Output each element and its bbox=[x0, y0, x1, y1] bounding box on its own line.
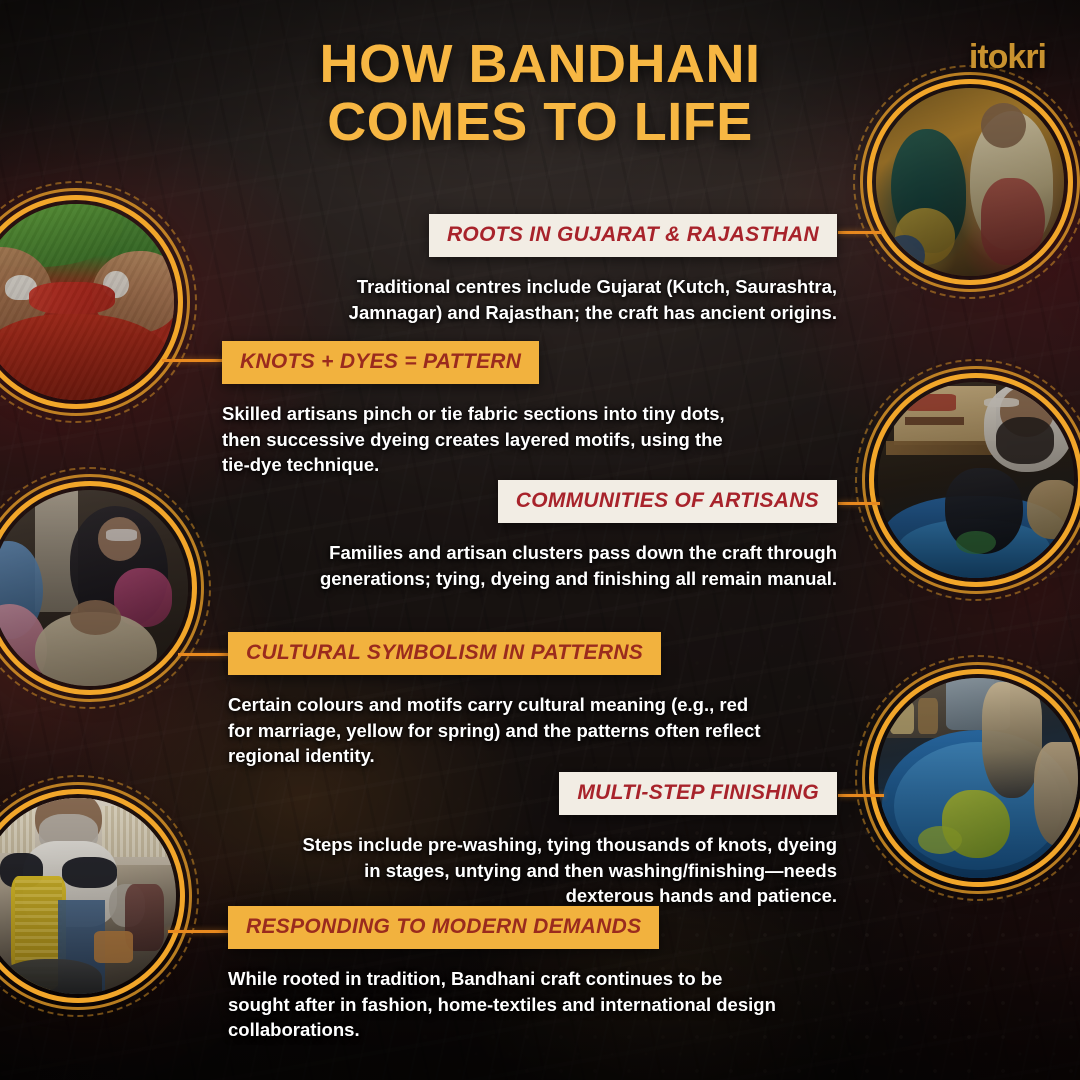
photo-man-lifting-yellow-fabric bbox=[0, 798, 176, 994]
photo-two-women-tying-knots-image bbox=[876, 88, 1064, 276]
section-3-body: Families and artisan clusters pass down … bbox=[245, 540, 837, 591]
photo-dyer-blue-tub bbox=[878, 382, 1074, 578]
photo-two-women-tying-knots bbox=[876, 88, 1064, 276]
page-title-line-2: COMES TO LIFE bbox=[210, 94, 870, 152]
brand-logo[interactable]: itokri bbox=[969, 38, 1046, 77]
section-2-label[interactable]: KNOTS + DYES = PATTERN bbox=[222, 341, 539, 384]
section-1-label[interactable]: ROOTS IN GUJARAT & RAJASTHAN bbox=[429, 214, 837, 257]
section-1: ROOTS IN GUJARAT & RAJASTHAN Traditional… bbox=[281, 214, 837, 325]
section-6: RESPONDING TO MODERN DEMANDS While roote… bbox=[228, 906, 784, 1043]
section-2: KNOTS + DYES = PATTERN Skilled artisans … bbox=[222, 341, 754, 478]
connector-line-3 bbox=[838, 502, 880, 505]
section-5-body: Steps include pre-washing, tying thousan… bbox=[300, 832, 837, 909]
connector-line-6 bbox=[168, 930, 230, 933]
photo-dye-vat-blue-yellow-image bbox=[878, 678, 1078, 878]
section-4: CULTURAL SYMBOLISM IN PATTERNS Certain c… bbox=[228, 632, 768, 769]
section-6-label[interactable]: RESPONDING TO MODERN DEMANDS bbox=[228, 906, 659, 949]
section-3: COMMUNITIES OF ARTISANS Families and art… bbox=[245, 480, 837, 591]
photo-dye-vat-blue-yellow bbox=[878, 678, 1078, 878]
photo-man-lifting-yellow-fabric-image bbox=[0, 798, 176, 994]
photo-woman-tying-cream-fabric bbox=[0, 490, 188, 686]
page-title: HOW BANDHANI COMES TO LIFE bbox=[210, 36, 870, 152]
section-5: MULTI-STEP FINISHING Steps include pre-w… bbox=[300, 772, 837, 909]
page-title-line-1: HOW BANDHANI bbox=[320, 34, 761, 94]
section-1-body: Traditional centres include Gujarat (Kut… bbox=[281, 274, 837, 325]
section-5-label[interactable]: MULTI-STEP FINISHING bbox=[559, 772, 837, 815]
photo-dyer-blue-tub-image bbox=[878, 382, 1074, 578]
section-6-body: While rooted in tradition, Bandhani craf… bbox=[228, 966, 784, 1043]
section-3-label[interactable]: COMMUNITIES OF ARTISANS bbox=[498, 480, 837, 523]
photo-hands-tying-red-fabric bbox=[0, 204, 174, 400]
connector-line-5 bbox=[838, 794, 884, 797]
section-4-label[interactable]: CULTURAL SYMBOLISM IN PATTERNS bbox=[228, 632, 661, 675]
connector-line-1 bbox=[838, 231, 882, 234]
connector-line-4 bbox=[178, 653, 230, 656]
connector-line-2 bbox=[162, 359, 224, 362]
photo-woman-tying-cream-fabric-image bbox=[0, 490, 188, 686]
section-4-body: Certain colours and motifs carry cultura… bbox=[228, 692, 768, 769]
photo-hands-tying-red-fabric-image bbox=[0, 204, 174, 400]
section-2-body: Skilled artisans pinch or tie fabric sec… bbox=[222, 401, 754, 478]
